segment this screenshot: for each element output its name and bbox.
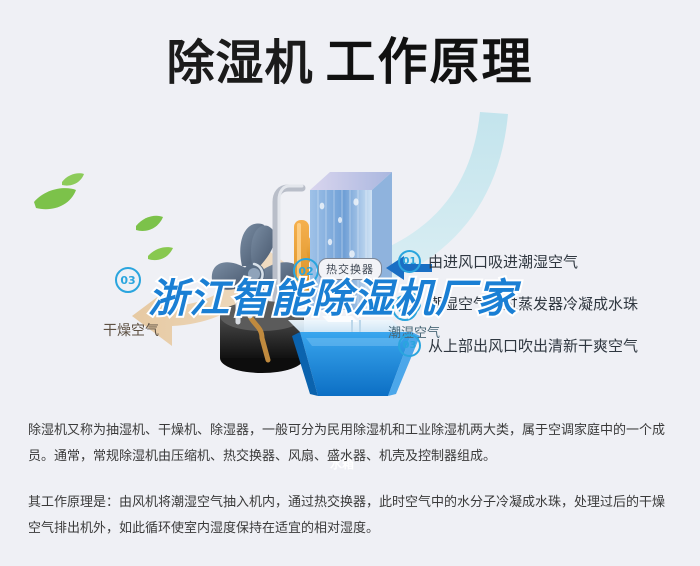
title-part-2: 工作原理 [326,33,534,91]
title-part-1: 除湿机 [166,35,313,91]
page-title: 除湿机工作原理 [0,22,700,94]
legend-item: 03 从上部出风口吹出清新干爽空气 [398,334,688,357]
leaf-icons [34,173,173,260]
watermark-text: 浙江智能除湿机厂家 [148,266,517,324]
badge-03: 03 [115,267,141,293]
description-block: 除湿机又称为抽湿机、干燥机、除湿器，一般可分为民用除湿机和工业除湿机两大类，属于… [28,418,676,554]
legend-text: 从上部出风口吹出清新干爽空气 [428,335,638,356]
paragraph-1: 除湿机又称为抽湿机、干燥机、除湿器，一般可分为民用除湿机和工业除湿机两大类，属于… [28,418,676,470]
paragraph-2: 其工作原理是：由风机将潮湿空气抽入机内，通过热交换器，此时空气中的水分子冷凝成水… [28,490,676,542]
legend-number: 03 [398,334,421,357]
poster-root: 除湿机工作原理 [0,0,700,566]
